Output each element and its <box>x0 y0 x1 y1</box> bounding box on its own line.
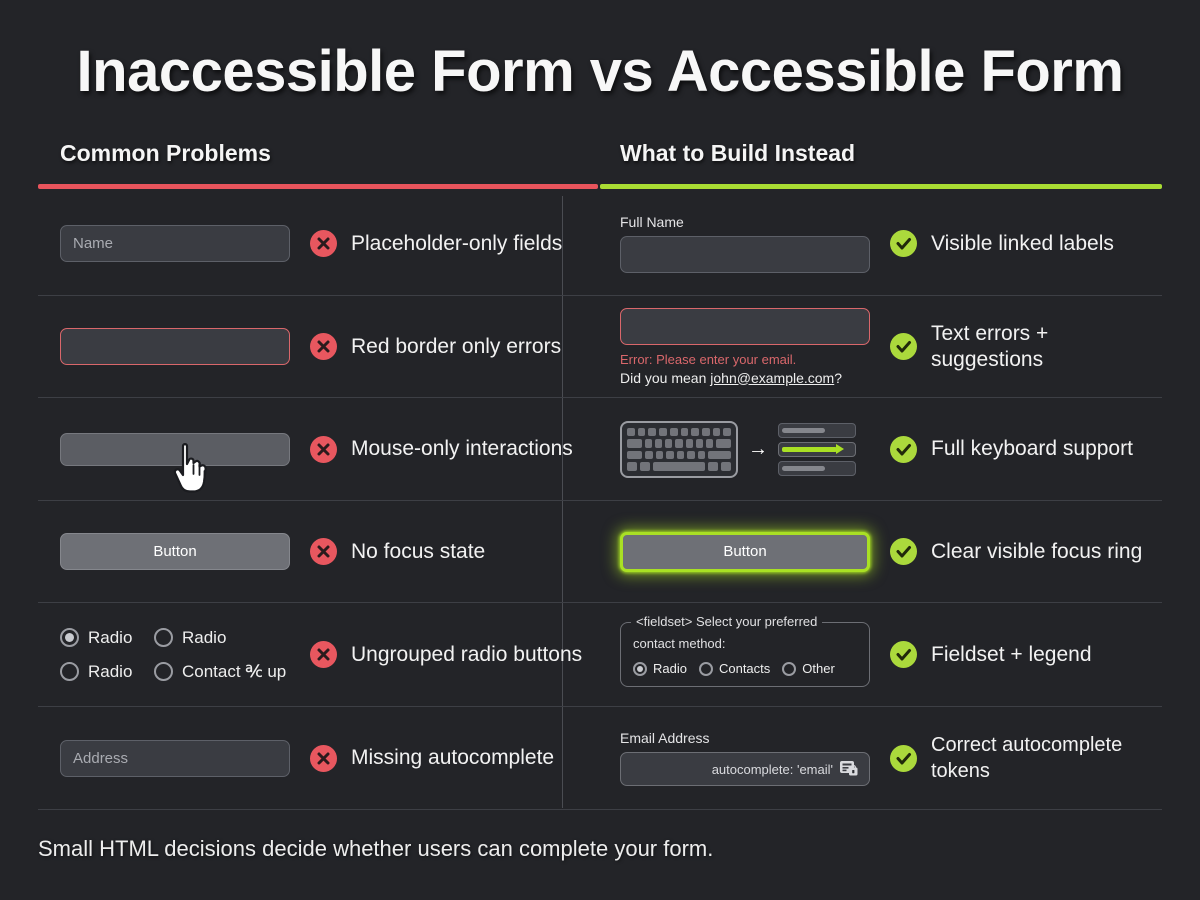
row-6-good-verdict-text: Correct autocomplete tokens <box>931 732 1152 784</box>
suggestion-suffix: ? <box>834 370 842 386</box>
focused-button[interactable]: Button <box>620 532 870 572</box>
email-address-label: Email Address <box>620 730 890 746</box>
radio-icon-selected <box>60 628 79 647</box>
good-column-rule <box>600 184 1162 189</box>
radio-option[interactable]: Radio <box>60 628 148 648</box>
ungrouped-radio-group: Radio Radio Radio Contact ℀ up <box>60 628 310 682</box>
keyboard-icon <box>620 421 738 478</box>
row-6-bad-verdict-text: Missing autocomplete <box>351 745 554 771</box>
row-5-good-verdict: Fieldset + legend <box>890 641 1152 668</box>
row-2-bad-demo <box>60 328 310 365</box>
row-5-good-demo: <fieldset> Select your preferred contact… <box>620 622 890 687</box>
row-4-bad-verdict: No focus state <box>310 538 590 565</box>
email-error-input[interactable] <box>620 308 870 345</box>
radio-option-label: Radio <box>182 628 226 648</box>
name-input-placeholder: Name <box>73 235 113 252</box>
check-circle-icon <box>890 641 917 668</box>
row-1-good-cell: Full Name Visible linked labels <box>600 192 1162 295</box>
column-headers: Common Problems What to Build Instead <box>38 140 1162 192</box>
pointing-hand-cursor-icon <box>171 442 215 499</box>
radio-option[interactable]: Radio <box>633 661 687 676</box>
x-circle-icon <box>310 641 337 668</box>
row-1-good-verdict: Visible linked labels <box>890 230 1152 257</box>
unfocused-button[interactable]: Button <box>60 533 290 570</box>
suggestion-hint: Did you mean john@example.com? <box>620 370 890 386</box>
row-4-good-cell: Button Clear visible focus ring <box>600 501 1162 602</box>
table-row: Name Placeholder-only fields Full Name <box>38 192 1162 296</box>
row-6-good-cell: Email Address autocomplete: 'email' <box>600 707 1162 809</box>
row-1-good-verdict-text: Visible linked labels <box>931 231 1114 257</box>
row-1-bad-verdict-text: Placeholder-only fields <box>351 231 562 257</box>
row-5-good-cell: <fieldset> Select your preferred contact… <box>600 603 1162 706</box>
row-6-bad-demo: Address <box>60 740 310 777</box>
radio-option[interactable]: Other <box>782 661 835 676</box>
error-input-borderonly[interactable] <box>60 328 290 365</box>
fieldset-group: <fieldset> Select your preferred contact… <box>620 622 870 687</box>
row-5-bad-demo: Radio Radio Radio Contact ℀ up <box>60 628 310 682</box>
row-5-good-verdict-text: Fieldset + legend <box>931 642 1092 668</box>
row-2-bad-cell: Red border only errors <box>38 296 600 397</box>
table-row: Red border only errors Error: Please ent… <box>38 296 1162 398</box>
column-header-good: What to Build Instead <box>620 140 855 167</box>
keyboard-row <box>627 451 731 460</box>
row-2-good-verdict: Text errors + suggestions <box>890 321 1152 373</box>
autocomplete-hint: autocomplete: 'email' <box>712 762 833 777</box>
row-2-good-verdict-text: Text errors + suggestions <box>931 321 1152 373</box>
row-2-bad-verdict-text: Red border only errors <box>351 334 561 360</box>
x-circle-icon <box>310 436 337 463</box>
full-name-label: Full Name <box>620 214 890 230</box>
radio-icon-selected <box>633 662 647 676</box>
radio-option-label: Contacts <box>719 661 770 676</box>
row-3-good-verdict: Full keyboard support <box>890 436 1152 463</box>
keyboard-row <box>627 462 731 471</box>
table-row: Mouse-only interactions <box>38 398 1162 501</box>
row-1-bad-verdict: Placeholder-only fields <box>310 230 590 257</box>
row-6-bad-verdict: Missing autocomplete <box>310 745 590 772</box>
page-title: Inaccessible Form vs Accessible Form <box>0 38 1200 105</box>
address-input-placeholder: Address <box>73 750 128 767</box>
radio-option-label: Radio <box>653 661 687 676</box>
row-4-good-verdict: Clear visible focus ring <box>890 538 1152 565</box>
focus-bar <box>778 461 856 476</box>
row-4-good-verdict-text: Clear visible focus ring <box>931 539 1142 565</box>
radio-option-label: Radio <box>88 662 132 682</box>
radio-icon <box>60 662 79 681</box>
x-circle-icon <box>310 333 337 360</box>
check-circle-icon <box>890 333 917 360</box>
comparison-grid: Name Placeholder-only fields Full Name <box>38 192 1162 810</box>
row-3-bad-cell: Mouse-only interactions <box>38 398 600 500</box>
row-4-bad-verdict-text: No focus state <box>351 539 485 565</box>
table-row: Address Missing autocomplete Email Addre… <box>38 707 1162 810</box>
focus-order-bars <box>778 423 856 476</box>
fieldset-radio-group: Radio Contacts Other <box>633 661 857 676</box>
row-4-good-demo: Button <box>620 532 890 572</box>
infographic-page: Inaccessible Form vs Accessible Form Com… <box>0 0 1200 900</box>
check-circle-icon <box>890 538 917 565</box>
x-circle-icon <box>310 230 337 257</box>
row-3-good-cell: → Full keyboard support <box>600 398 1162 500</box>
unfocused-button-label: Button <box>153 543 196 560</box>
focus-bar-active <box>778 442 856 457</box>
table-row: Radio Radio Radio Contact ℀ up Ungrouped… <box>38 603 1162 707</box>
table-row: Button No focus state Button <box>38 501 1162 603</box>
row-6-good-demo: Email Address autocomplete: 'email' <box>620 730 890 786</box>
suggestion-prefix: Did you mean <box>620 370 710 386</box>
row-3-good-verdict-text: Full keyboard support <box>931 436 1133 462</box>
x-circle-icon <box>310 538 337 565</box>
radio-option[interactable]: Radio <box>154 628 310 648</box>
mouse-only-target[interactable] <box>60 433 290 466</box>
check-circle-icon <box>890 745 917 772</box>
name-input[interactable]: Name <box>60 225 290 262</box>
fieldset-legend-tag: <fieldset> <box>636 614 692 629</box>
row-5-bad-cell: Radio Radio Radio Contact ℀ up Ungrouped… <box>38 603 600 706</box>
footer-caption: Small HTML decisions decide whether user… <box>38 836 713 862</box>
row-3-bad-verdict: Mouse-only interactions <box>310 436 590 463</box>
autofill-lock-icon <box>840 760 859 779</box>
x-circle-icon <box>310 745 337 772</box>
arrow-right-icon: → <box>748 439 768 459</box>
row-3-bad-demo <box>60 433 310 466</box>
check-circle-icon <box>890 436 917 463</box>
row-4-bad-demo: Button <box>60 533 310 570</box>
row-1-good-demo: Full Name <box>620 214 890 273</box>
radio-option[interactable]: Radio <box>60 662 148 682</box>
row-2-bad-verdict: Red border only errors <box>310 333 590 360</box>
radio-option-label: Radio <box>88 628 132 648</box>
focused-button-label: Button <box>723 543 766 560</box>
row-4-bad-cell: Button No focus state <box>38 501 600 602</box>
keyboard-flow-demo: → <box>620 421 890 478</box>
fieldset-legend-text: Select your preferred <box>696 614 817 629</box>
keyboard-row <box>627 439 731 448</box>
row-1-bad-cell: Name Placeholder-only fields <box>38 192 600 295</box>
keyboard-row <box>627 428 731 437</box>
radio-option-label: Other <box>802 661 835 676</box>
radio-icon <box>782 662 796 676</box>
fieldset-legend: <fieldset> Select your preferred <box>631 614 822 629</box>
error-message: Error: Please enter your email. <box>620 352 890 367</box>
row-5-bad-verdict-text: Ungrouped radio buttons <box>351 642 582 668</box>
row-6-good-verdict: Correct autocomplete tokens <box>890 732 1152 784</box>
row-3-bad-verdict-text: Mouse-only interactions <box>351 436 573 462</box>
row-1-bad-demo: Name <box>60 225 310 262</box>
row-3-good-demo: → <box>620 421 890 478</box>
email-autocomplete-input[interactable]: autocomplete: 'email' <box>620 752 870 786</box>
address-input[interactable]: Address <box>60 740 290 777</box>
bad-column-rule <box>38 184 598 189</box>
radio-option[interactable]: Contacts <box>699 661 770 676</box>
row-2-good-cell: Error: Please enter your email. Did you … <box>600 296 1162 397</box>
full-name-input[interactable] <box>620 236 870 273</box>
radio-icon <box>154 628 173 647</box>
suggestion-email-link[interactable]: john@example.com <box>710 370 834 386</box>
radio-icon <box>699 662 713 676</box>
radio-option-label: Contact ℀ up <box>182 662 286 682</box>
row-5-bad-verdict: Ungrouped radio buttons <box>310 641 590 668</box>
radio-option[interactable]: Contact ℀ up <box>154 662 310 682</box>
row-2-good-demo: Error: Please enter your email. Did you … <box>620 308 890 386</box>
row-6-bad-cell: Address Missing autocomplete <box>38 707 600 809</box>
check-circle-icon <box>890 230 917 257</box>
focus-bar <box>778 423 856 438</box>
fieldset-body-text: contact method: <box>633 635 857 652</box>
column-header-bad: Common Problems <box>60 140 271 167</box>
radio-icon <box>154 662 173 681</box>
